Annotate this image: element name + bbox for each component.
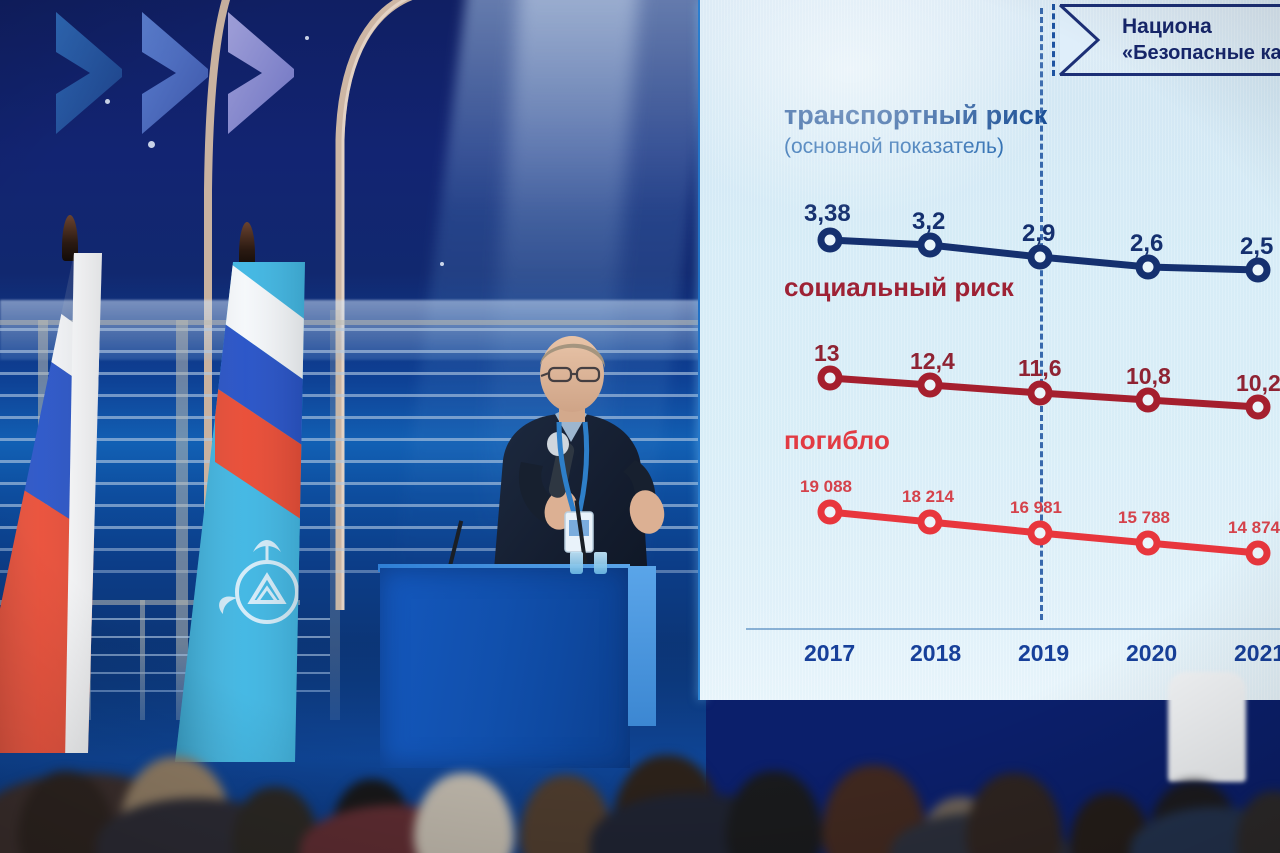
value-label-transport-2019: 2,9	[1022, 220, 1055, 248]
conference-stage-scene: Национа «Безопасные ка транспортный риск…	[0, 0, 1280, 853]
star-dot	[148, 141, 155, 148]
value-label-transport-2021: 2,5	[1240, 233, 1273, 261]
value-label-social-2019: 11,6	[1018, 355, 1062, 382]
value-label-pogiblo-2018: 18 214	[902, 487, 954, 507]
value-label-pogiblo-2021: 14 874	[1228, 518, 1280, 538]
value-label-transport-2018: 3,2	[912, 208, 945, 236]
water-bottle	[570, 552, 583, 574]
value-label-social-2020: 10,8	[1126, 363, 1171, 390]
audience-rows	[0, 663, 1280, 853]
presentation-screen: Национа «Безопасные ка транспортный риск…	[700, 0, 1280, 700]
value-label-pogiblo-2017: 19 088	[800, 477, 852, 497]
value-label-social-2017: 13	[814, 340, 840, 367]
value-label-pogiblo-2020: 15 788	[1118, 508, 1170, 528]
star-dot	[105, 99, 110, 104]
value-label-social-2018: 12,4	[910, 348, 955, 375]
chart-lines	[700, 0, 1280, 700]
value-label-transport-2017: 3,38	[804, 200, 851, 228]
water-bottle	[594, 552, 607, 574]
value-label-pogiblo-2019: 16 981	[1010, 498, 1062, 518]
value-label-transport-2020: 2,6	[1130, 230, 1163, 258]
x-axis-line	[746, 628, 1280, 630]
value-label-social-2021: 10,2	[1236, 370, 1280, 397]
